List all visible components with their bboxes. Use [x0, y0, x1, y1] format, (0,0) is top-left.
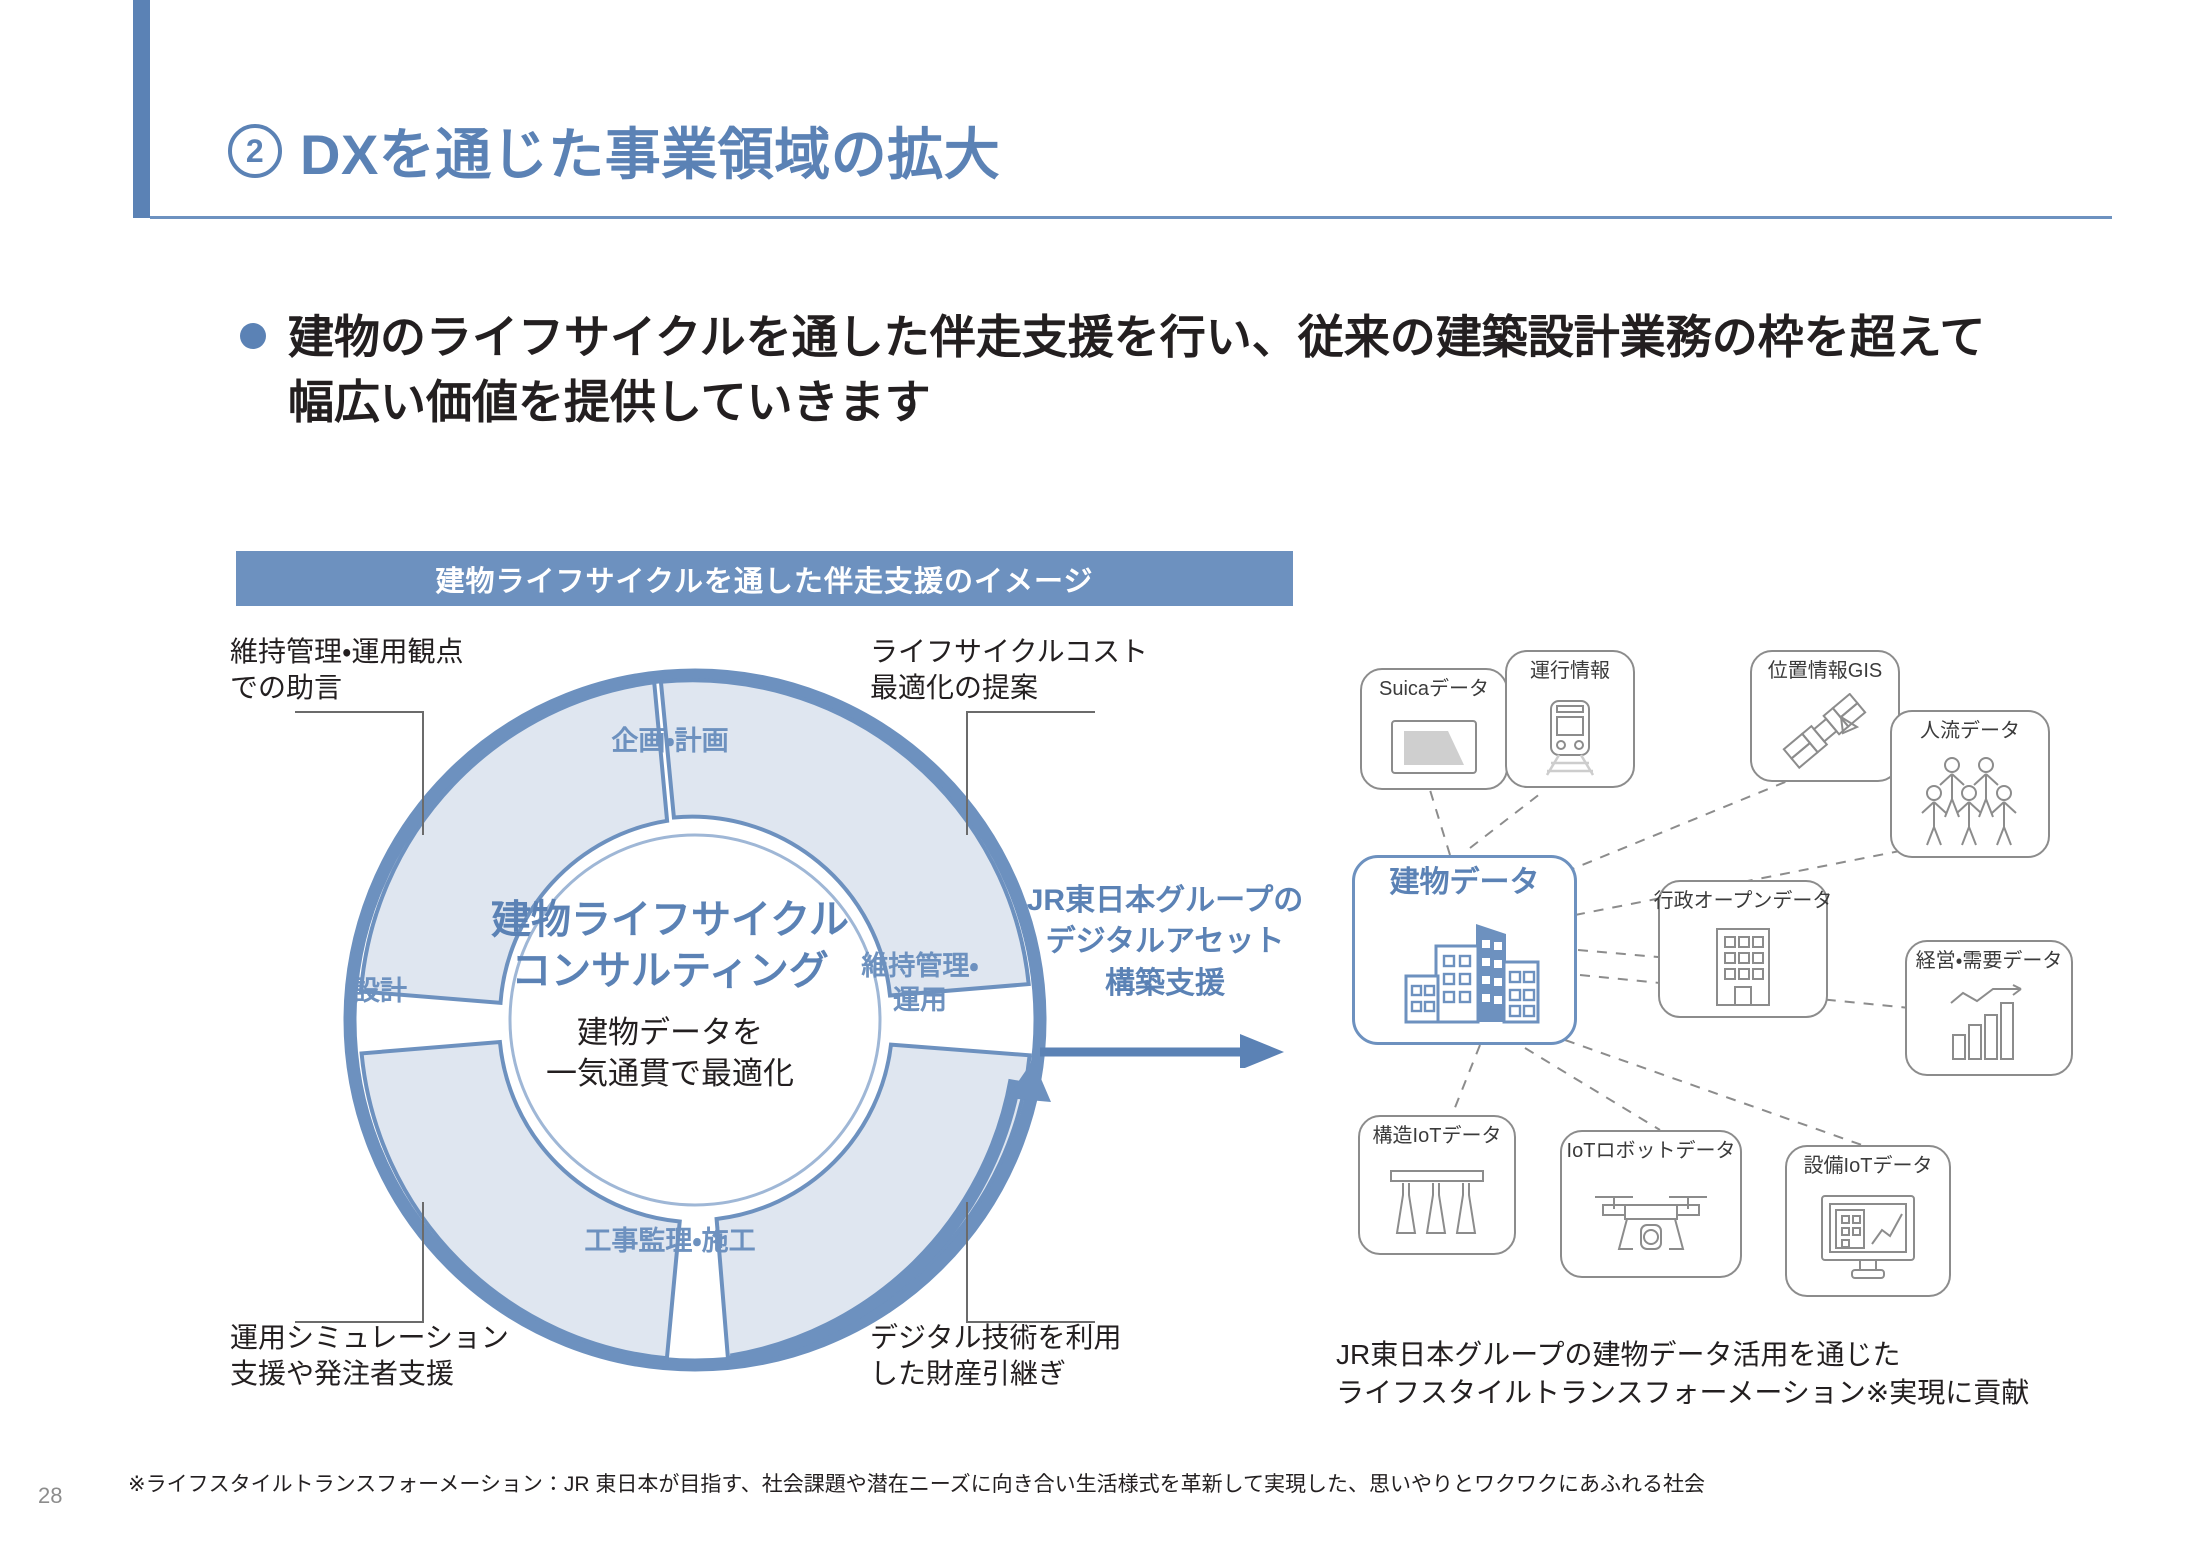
section-banner-label: 建物ライフサイクルを通した伴走支援のイメージ — [436, 558, 1094, 600]
lead-bullet: 建物のライフサイクルを通した伴走支援を行い、従来の建築設計業務の枠を超えて 幅広… — [240, 305, 1985, 436]
cycle-callout-bottom-right-line-1: デジタル技術を利用 — [870, 1320, 1121, 1356]
cycle-callout-top-left-line-1: 維持管理・運用観点 — [230, 634, 464, 670]
data-node-label: IoTロボットデータ — [1567, 1140, 1736, 1162]
data-node-label: 人流データ — [1920, 720, 2020, 742]
data-node-label: 位置情報GIS — [1768, 660, 1882, 682]
page-title: 2 DXを通じた事業領域の拡大 — [228, 110, 1000, 191]
monitor-chart-icon — [1814, 1181, 1922, 1295]
cycle-callout-bottom-left-line-2: 支援や発注者支援 — [230, 1356, 509, 1392]
page-number: 28 — [38, 1483, 62, 1509]
data-node-government-open-data: 行政オープンデータ — [1658, 880, 1828, 1018]
cycle-center-subtitle-line-2: 一気通貫で最適化 — [455, 1054, 885, 1094]
right-arrow-icon — [1040, 1028, 1290, 1068]
data-node-label: 運行情報 — [1530, 660, 1610, 682]
cycle-center-title: 建物ライフサイクル コンサルティング — [455, 895, 885, 997]
transition-label-line-3: 構築支援 — [1020, 963, 1310, 1004]
data-node-label: 行政オープンデータ — [1654, 890, 1833, 912]
lead-text-line-1: 建物のライフサイクルを通した伴走支援を行い、従来の建築設計業務の枠を超えて — [288, 305, 1985, 370]
data-network-caption-line-1: JR東日本グループの建物データ活用を通じた — [1336, 1336, 2029, 1374]
cycle-center-text: 建物ライフサイクル コンサルティング 建物データを 一気通貫で最適化 — [455, 895, 885, 1094]
transition-label-line-2: デジタルアセット — [1020, 921, 1310, 962]
cycle-callout-bottom-left-line-1: 運用シミュレーション — [230, 1320, 509, 1356]
data-node-facility-iot-data: 設備IoTデータ — [1785, 1145, 1951, 1297]
cycle-callout-top-right: ライフサイクルコスト 最適化の提案 — [870, 634, 1148, 707]
data-node-people-flow-data: 人流データ — [1890, 710, 2050, 858]
section-banner: 建物ライフサイクルを通した伴走支援のイメージ — [236, 551, 1293, 606]
footnote: ※ライフスタイルトランスフォーメーション：JR 東日本が目指す、社会課題や潜在ニ… — [128, 1468, 1705, 1498]
cycle-segment-label-design: 設計 — [315, 975, 445, 1009]
data-node-label: 経営・需要データ — [1916, 950, 2063, 972]
data-node-management-demand-data: 経営・需要データ — [1905, 940, 2073, 1076]
cycle-callout-bottom-right-line-2: した財産引継ぎ — [870, 1356, 1121, 1392]
data-node-iot-robot-data: IoTロボットデータ — [1560, 1130, 1742, 1278]
bullet-dot-icon — [240, 323, 266, 349]
ic-card-icon — [1388, 704, 1480, 788]
cycle-segment-label-construction: 工事監理・施工 — [520, 1225, 820, 1259]
cycle-center-subtitle-line-1: 建物データを — [455, 1013, 885, 1053]
transition-label-line-1: JR東日本グループの — [1020, 880, 1310, 921]
section-number-badge: 2 — [228, 124, 282, 178]
cycle-callout-top-left: 維持管理・運用観点 での助言 — [230, 634, 464, 707]
data-node-operation-info: 運行情報 — [1505, 650, 1635, 788]
data-network-caption-line-2: ライフスタイルトランスフォーメーション※実現に貢献 — [1336, 1374, 2029, 1412]
train-icon — [1531, 686, 1609, 786]
header-accent-bar — [133, 0, 150, 218]
data-node-structural-iot-data: 構造IoTデータ — [1358, 1115, 1516, 1255]
buildings-icon — [1390, 903, 1540, 1042]
transition-label: JR東日本グループの デジタルアセット 構築支援 — [1020, 880, 1310, 1004]
header-divider-rule — [150, 216, 2112, 219]
cycle-callout-top-right-line-2: 最適化の提案 — [870, 670, 1148, 706]
data-node-suica-data: Suicaデータ — [1360, 668, 1508, 790]
page-title-text: DXを通じた事業領域の拡大 — [300, 110, 1000, 191]
data-node-label: 設備IoTデータ — [1804, 1155, 1933, 1177]
cycle-callout-top-right-line-1: ライフサイクルコスト — [870, 634, 1148, 670]
data-node-label: Suicaデータ — [1379, 678, 1489, 700]
people-flow-icon — [1912, 746, 2028, 856]
data-node-building-data: 建物データ — [1352, 855, 1577, 1045]
cycle-callout-top-left-line-2: での助言 — [230, 670, 464, 706]
cycle-callout-bottom-left: 運用シミュレーション 支援や発注者支援 — [230, 1320, 509, 1393]
lead-text: 建物のライフサイクルを通した伴走支援を行い、従来の建築設計業務の枠を超えて 幅広… — [288, 305, 1985, 436]
data-node-label: 建物データ — [1390, 866, 1540, 899]
satellite-icon — [1777, 686, 1873, 780]
lead-text-line-2: 幅広い価値を提供していきます — [288, 370, 1985, 435]
transition-annotation: JR東日本グループの デジタルアセット 構築支援 — [1020, 880, 1310, 1073]
cycle-center-title-line-1: 建物ライフサイクル — [455, 895, 885, 946]
government-building-icon — [1701, 916, 1785, 1016]
data-network-caption: JR東日本グループの建物データ活用を通じた ライフスタイルトランスフォーメーショ… — [1336, 1336, 2029, 1411]
cycle-center-subtitle: 建物データを 一気通貫で最適化 — [455, 1013, 885, 1094]
bridge-icon — [1385, 1151, 1489, 1253]
cycle-center-title-line-2: コンサルティング — [455, 946, 885, 997]
bar-chart-icon — [1943, 976, 2035, 1074]
cycle-segment-label-plan: 企画・計画 — [560, 725, 780, 759]
cycle-callout-bottom-right: デジタル技術を利用 した財産引継ぎ — [870, 1320, 1121, 1393]
data-node-label: 構造IoTデータ — [1373, 1125, 1502, 1147]
data-node-location-gis: 位置情報GIS — [1750, 650, 1900, 782]
data-network-diagram: 建物データ — [1330, 650, 2160, 1310]
drone-icon — [1589, 1166, 1713, 1276]
